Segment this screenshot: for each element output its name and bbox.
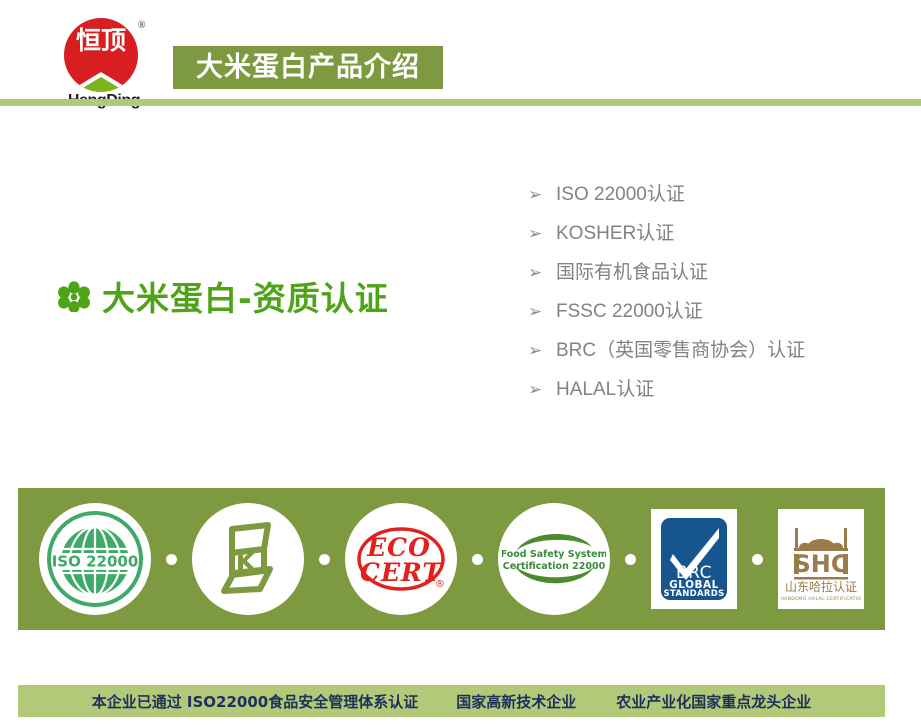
separator-dot <box>319 554 330 565</box>
slide-canvas: 恒顶 ® HengDing 大米蛋白产品介绍 大米蛋白-资质认证 <box>0 0 921 725</box>
arrow-bullet-icon: ➢ <box>528 176 556 215</box>
svg-text:SHANDONG HALAL CERTIFICATION: SHANDONG HALAL CERTIFICATION <box>781 596 861 602</box>
ecocert-badge-icon: ECO CERT ® <box>351 509 451 609</box>
svg-text:CERT: CERT <box>360 558 443 587</box>
list-item: ➢ HALAL认证 <box>528 370 898 409</box>
list-item-label: FSSC 22000认证 <box>556 292 703 331</box>
header-divider <box>0 99 921 106</box>
cert-badge-ecocert: ECO CERT ® <box>345 503 457 615</box>
separator-dot <box>625 554 636 565</box>
list-item: ➢ FSSC 22000认证 <box>528 292 898 331</box>
certification-list: ➢ ISO 22000认证 ➢ KOSHER认证 ➢ 国际有机食品认证 ➢ FS… <box>528 175 898 409</box>
list-item-label: HALAL认证 <box>556 370 654 409</box>
svg-text:Certification 22000: Certification 22000 <box>503 561 606 572</box>
list-item: ➢ ISO 22000认证 <box>528 175 898 214</box>
svg-text:山东哈拉认证: 山东哈拉认证 <box>785 579 857 594</box>
cert-badge-iso-22000: ISO 22000 INTERTEK <box>39 503 151 615</box>
cert-badge-shc-halal: SHC 山东哈拉认证 SHANDONG HALAL CERTIFICATION <box>778 509 864 609</box>
shc-halal-badge-icon: SHC 山东哈拉认证 SHANDONG HALAL CERTIFICATION <box>781 514 861 604</box>
cert-badge-fssc-22000: Food Safety System Certification 22000 <box>498 503 610 615</box>
page-title: 大米蛋白产品介绍 <box>173 46 443 89</box>
certification-logos-band: ISO 22000 INTERTEK K <box>18 488 885 630</box>
page-title-label: 大米蛋白产品介绍 <box>173 46 443 89</box>
section-heading-label: 大米蛋白-资质认证 <box>102 272 389 320</box>
fssc-22000-badge-icon: Food Safety System Certification 22000 <box>502 507 606 611</box>
brc-global-standards-badge-icon: BRC GLOBAL STANDARDS <box>659 516 729 602</box>
separator-dot <box>752 554 763 565</box>
kosher-k-badge-icon: K <box>202 513 294 605</box>
cert-badge-kosher: K <box>192 503 304 615</box>
svg-text:ISO 22000: ISO 22000 <box>52 553 139 571</box>
list-item-label: BRC（英国零售商协会）认证 <box>556 331 805 370</box>
arrow-bullet-icon: ➢ <box>528 332 556 371</box>
logo-registered-mark: ® <box>138 20 146 31</box>
list-item: ➢ BRC（英国零售商协会）认证 <box>528 331 898 370</box>
footer-item-leading-enterprise: 农业产业化国家重点龙头企业 <box>616 691 811 712</box>
list-item: ➢ 国际有机食品认证 <box>528 253 898 292</box>
arrow-bullet-icon: ➢ <box>528 371 556 410</box>
list-item: ➢ KOSHER认证 <box>528 214 898 253</box>
arrow-bullet-icon: ➢ <box>528 215 556 254</box>
flower-bullet-icon <box>58 280 90 312</box>
svg-text:STANDARDS: STANDARDS <box>663 589 724 599</box>
intertek-iso-22000-badge-icon: ISO 22000 INTERTEK <box>43 507 147 611</box>
footer-item-iso: 本企业已通过 ISO22000食品安全管理体系认证 <box>92 691 419 712</box>
separator-dot <box>472 554 483 565</box>
company-logo: 恒顶 ® HengDing <box>52 18 156 98</box>
cert-badge-brc: BRC GLOBAL STANDARDS <box>651 509 737 609</box>
section-heading: 大米蛋白-资质认证 <box>58 272 389 320</box>
list-item-label: KOSHER认证 <box>556 214 674 253</box>
svg-text:®: ® <box>435 579 445 590</box>
list-item-label: ISO 22000认证 <box>556 175 685 214</box>
footer-item-hightech: 国家高新技术企业 <box>456 691 576 712</box>
arrow-bullet-icon: ➢ <box>528 293 556 332</box>
logo-circle-icon: 恒顶 <box>64 18 138 92</box>
svg-text:Food Safety System: Food Safety System <box>502 549 606 560</box>
arrow-bullet-icon: ➢ <box>528 254 556 293</box>
logo-mountain-icon <box>64 66 138 92</box>
svg-text:SHC: SHC <box>794 550 849 578</box>
list-item-label: 国际有机食品认证 <box>556 253 708 292</box>
footer-bar: 本企业已通过 ISO22000食品安全管理体系认证 国家高新技术企业 农业产业化… <box>18 685 885 717</box>
svg-text:K: K <box>236 547 258 578</box>
logo-chinese-name: 恒顶 <box>64 27 138 55</box>
separator-dot <box>166 554 177 565</box>
